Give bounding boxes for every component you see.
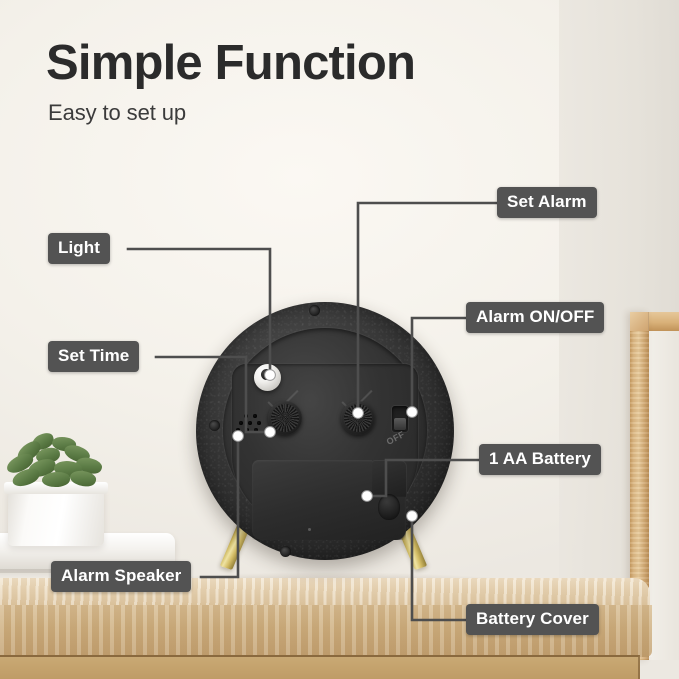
callout-line-set-time	[156, 357, 270, 432]
anchor-dot-battery-cover	[407, 511, 418, 522]
callout-label-set-time[interactable]: Set Time	[48, 341, 139, 372]
callout-label-alarm-speaker[interactable]: Alarm Speaker	[51, 561, 191, 592]
callout-label-light[interactable]: Light	[48, 233, 110, 264]
anchor-dot-alarm-speaker	[233, 431, 244, 442]
callout-label-1-aa-battery[interactable]: 1 AA Battery	[479, 444, 601, 475]
anchor-dot-set-time	[265, 427, 276, 438]
anchor-dot-set-alarm	[353, 408, 364, 419]
callout-line-alarm-on-off	[412, 318, 466, 412]
page-title: Simple Function	[46, 35, 415, 91]
page-subtitle: Easy to set up	[48, 100, 186, 126]
anchor-dot-1-aa-battery	[362, 491, 373, 502]
callout-line-alarm-speaker	[201, 436, 238, 577]
callout-line-battery-cover	[412, 516, 466, 620]
anchor-dot-light	[265, 370, 276, 381]
callout-label-alarm-on-off[interactable]: Alarm ON/OFF	[466, 302, 604, 333]
callout-label-battery-cover[interactable]: Battery Cover	[466, 604, 599, 635]
anchor-dot-alarm-on-off	[407, 407, 418, 418]
callout-label-set-alarm[interactable]: Set Alarm	[497, 187, 597, 218]
callout-line-1-aa-battery	[367, 460, 479, 496]
